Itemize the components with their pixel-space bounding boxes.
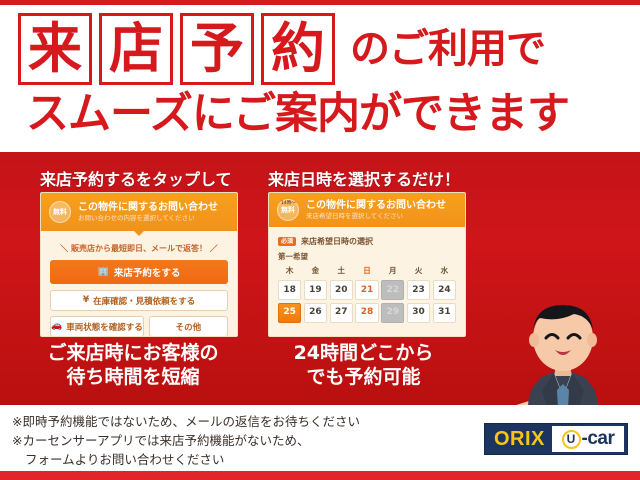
- kanji-box-2: 店: [99, 13, 173, 85]
- vehicle-condition-button-label: 車両状態を確認する: [66, 321, 143, 333]
- kanji-box-3: 予: [180, 13, 254, 85]
- right-caption: 24時間どこからでも予約可能: [256, 342, 471, 390]
- headline-row-2: スムーズにご案内ができます: [26, 93, 626, 136]
- mockup-header-left: 無料 この物件に関するお問い合わせ お問い合わせの内容を選択してください: [41, 193, 237, 231]
- mockup-header-sub-left: お問い合わせの内容を選択してください: [78, 214, 218, 222]
- red-body: 来店予約するをタップして 来店日時を選択するだけ！ 無料 この物件に関するお問い…: [0, 152, 640, 405]
- left-caption: ご来店時にお客様の待ち時間を短縮: [18, 342, 248, 390]
- calendar-mockup: 無料 この物件に関するお問い合わせ 来店希望日時を選択してください 必須 来店希…: [268, 192, 466, 337]
- u-circle-icon: U: [562, 430, 581, 449]
- free-badge-left: 無料: [49, 201, 71, 223]
- calendar-day-19[interactable]: 19: [304, 280, 327, 300]
- right-panel-title: 来店日時を選択するだけ！: [268, 166, 460, 190]
- calendar-day-number: 19: [309, 286, 322, 295]
- calendar-weekday: 金: [304, 265, 327, 278]
- car-icon: 🚗: [51, 322, 62, 331]
- calendar-day-number: 29: [387, 308, 400, 317]
- headline-tail: のご利用で: [350, 29, 545, 69]
- calendar-day-note: 14時～: [281, 201, 466, 208]
- disclaimer-line-3: フォームよりお問い合わせください: [12, 450, 462, 469]
- visit-reservation-button[interactable]: 🏢 来店予約をする: [50, 260, 228, 284]
- visit-reservation-banner: 来 店 予 約 のご利用で スムーズにご案内ができます 来店予約するをタップして…: [0, 0, 640, 480]
- calendar-day-22: 22: [381, 280, 404, 300]
- header-notch-left: [133, 230, 145, 236]
- other-button-label: その他: [176, 321, 202, 333]
- calendar-weekday: 水: [433, 265, 456, 278]
- calendar-weekday-row: 木金土日月火水: [278, 265, 456, 278]
- calendar-weekday: 木: [278, 265, 301, 278]
- visit-reservation-button-label: 来店予約をする: [114, 265, 181, 279]
- first-choice-label: 第一希望: [278, 251, 456, 262]
- contact-form-mockup: 無料 この物件に関するお問い合わせ お問い合わせの内容を選択してください ＼ 販…: [40, 192, 238, 337]
- yen-icon: ¥: [83, 296, 89, 305]
- mockup-header-right: 無料 この物件に関するお問い合わせ 来店希望日時を選択してください: [269, 193, 465, 227]
- caption-line: 24時間どこから: [256, 342, 471, 366]
- bottom-red-rule: [0, 471, 640, 480]
- calendar-day-number: 23: [412, 286, 425, 295]
- calendar-day-number: 28: [361, 308, 374, 317]
- calendar-day-28[interactable]: 28: [355, 303, 378, 323]
- calendar-day-grid: 181920212223242514時～262728293031: [278, 280, 456, 323]
- calendar-day-number: 20: [335, 286, 348, 295]
- calendar-weekday: 月: [381, 265, 404, 278]
- kanji-box-1: 来: [18, 13, 92, 85]
- calendar-day-26[interactable]: 26: [304, 303, 327, 323]
- stock-quote-button[interactable]: ¥ 在庫確認・見積依頼をする: [50, 290, 228, 311]
- caption-line: でも予約可能: [256, 366, 471, 390]
- calendar-day-23[interactable]: 23: [407, 280, 430, 300]
- required-badge: 必須: [278, 237, 296, 246]
- store-icon: 🏢: [98, 268, 109, 277]
- calendar-day-number: 27: [335, 308, 348, 317]
- disclaimer-line-1: ※即時予約機能ではないため、メールの返信をお待ちください: [12, 412, 462, 431]
- reply-lead-text: ＼ 販売店から最短即日、メールで返答！ ／: [50, 243, 228, 254]
- calendar-day-number: 30: [412, 308, 425, 317]
- vehicle-condition-button[interactable]: 🚗 車両状態を確認する: [50, 316, 144, 337]
- mockup-header-title-left: この物件に関するお問い合わせ: [78, 202, 218, 214]
- headline-row-1: 来 店 予 約 のご利用で: [18, 13, 545, 85]
- other-button[interactable]: その他: [149, 316, 228, 337]
- calendar-weekday: 日: [355, 265, 378, 278]
- calendar-day-number: 24: [438, 286, 451, 295]
- kanji-box-4: 約: [261, 13, 335, 85]
- orix-ucar-logo: ORIX U -car: [484, 423, 628, 455]
- left-panel-title: 来店予約するをタップして: [40, 166, 232, 190]
- calendar-day-number: 25: [283, 308, 296, 317]
- calendar-day-number: 31: [438, 308, 451, 317]
- secondary-button-row: 🚗 車両状態を確認する その他: [50, 316, 228, 337]
- disclaimer-line-2: ※カーセンサーアプリでは来店予約機能がないため、: [12, 431, 462, 450]
- ucar-text: -car: [582, 428, 615, 450]
- caption-line: ご来店時にお客様の: [18, 342, 248, 366]
- calendar-day-24[interactable]: 24: [433, 280, 456, 300]
- orix-wordmark: ORIX: [485, 428, 552, 451]
- calendar-weekday: 土: [330, 265, 353, 278]
- calendar-day-number: 21: [361, 286, 374, 295]
- caption-line: 待ち時間を短縮: [18, 366, 248, 390]
- calendar-day-number: 26: [309, 308, 322, 317]
- calendar-day-29: 29: [381, 303, 404, 323]
- calendar-section-title: 来店希望日時の選択: [301, 236, 373, 247]
- stock-quote-button-label: 在庫確認・見積依頼をする: [93, 295, 195, 307]
- calendar-day-number: 18: [283, 286, 296, 295]
- ucar-badge: U -car: [552, 426, 624, 452]
- headline-block: 来 店 予 約 のご利用で スムーズにご案内ができます: [0, 5, 640, 152]
- calendar-weekday: 火: [407, 265, 430, 278]
- calendar-day-number: 22: [387, 286, 400, 295]
- calendar-day-18[interactable]: 18: [278, 280, 301, 300]
- calendar-day-21[interactable]: 21: [355, 280, 378, 300]
- calendar-day-31[interactable]: 31: [433, 303, 456, 323]
- disclaimer-notes: ※即時予約機能ではないため、メールの返信をお待ちください ※カーセンサーアプリで…: [12, 412, 462, 469]
- calendar-day-30[interactable]: 30: [407, 303, 430, 323]
- calendar-section-header: 必須 来店希望日時の選択: [278, 236, 456, 247]
- calendar-day-27[interactable]: 27: [330, 303, 353, 323]
- mockup-header-sub-right: 来店希望日時を選択してください: [306, 212, 446, 220]
- calendar-day-25[interactable]: 2514時～: [278, 303, 301, 323]
- calendar-day-20[interactable]: 20: [330, 280, 353, 300]
